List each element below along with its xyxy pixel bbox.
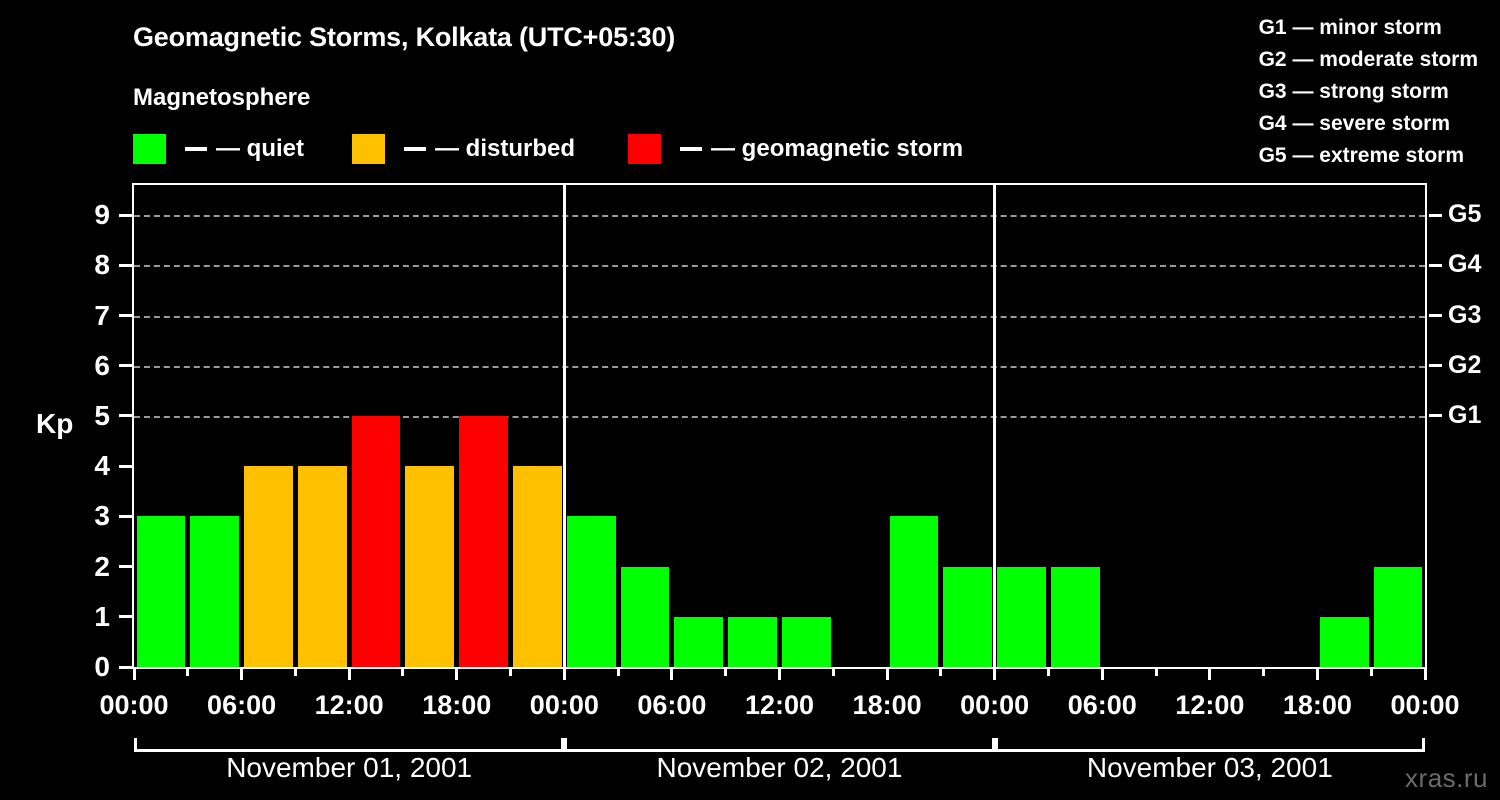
chart-subtitle: Magnetosphere: [133, 84, 310, 112]
g-tick-label-G1: G1: [1448, 403, 1481, 428]
x-tick-mark-minor: [1370, 667, 1373, 676]
page-title: Geomagnetic Storms, Kolkata (UTC+05:30): [133, 22, 675, 53]
x-tick-mark-minor: [617, 667, 620, 676]
legend-item-quiet: — quiet: [133, 134, 304, 164]
g-tick-label-G2: G2: [1448, 353, 1481, 378]
y-tick-mark: [119, 465, 132, 468]
x-tick-mark: [1424, 667, 1427, 680]
x-tick-label: 18:00: [1257, 692, 1377, 719]
x-tick-mark: [1208, 667, 1211, 680]
bar[interactable]: [1051, 567, 1100, 667]
x-tick-mark: [886, 667, 889, 680]
watermark: xras.ru: [1405, 763, 1488, 794]
y-tick-label-1: 1: [70, 603, 110, 631]
x-tick-mark-minor: [939, 667, 942, 676]
day-label: November 03, 2001: [995, 752, 1425, 784]
bar[interactable]: [943, 567, 992, 667]
x-tick-mark-minor: [186, 667, 189, 676]
bar[interactable]: [674, 617, 723, 667]
x-tick-mark-minor: [509, 667, 512, 676]
bar[interactable]: [190, 516, 239, 667]
plot-area: [132, 183, 1427, 669]
bar[interactable]: [1320, 617, 1369, 667]
y-tick-mark: [119, 314, 132, 317]
day-bracket: [995, 738, 1425, 752]
gridline-kp-6: [134, 366, 1425, 368]
x-tick-mark-minor: [832, 667, 835, 676]
legend-swatch-storm-icon: [628, 134, 661, 164]
day-separator: [993, 185, 996, 667]
y-tick-mark: [119, 364, 132, 367]
bar[interactable]: [890, 516, 939, 667]
legend-label-quiet: — quiet: [216, 135, 304, 163]
day-bracket: [134, 738, 564, 752]
y-tick-mark: [119, 214, 132, 217]
x-tick-mark: [133, 667, 136, 680]
x-tick-mark-minor: [1155, 667, 1158, 676]
gridline-kp-5: [134, 416, 1425, 418]
legend-item-geomagnetic-storm: — geomagnetic storm: [628, 134, 963, 164]
legend-dash-icon: [680, 147, 702, 151]
x-tick-mark: [455, 667, 458, 680]
y-tick-mark: [119, 615, 132, 618]
x-tick-label: 18:00: [397, 692, 517, 719]
y-tick-mark: [119, 264, 132, 267]
x-tick-mark-minor: [724, 667, 727, 676]
x-tick-mark-minor: [401, 667, 404, 676]
g-scale-line-g1: G1 — minor storm: [1259, 12, 1478, 44]
g-scale-line-g2: G2 — moderate storm: [1259, 44, 1478, 76]
x-tick-mark: [348, 667, 351, 680]
x-tick-label: 12:00: [1150, 692, 1270, 719]
y-tick-label-3: 3: [70, 502, 110, 530]
y-tick-label-6: 6: [70, 352, 110, 380]
bar[interactable]: [621, 567, 670, 667]
y-tick-label-8: 8: [70, 251, 110, 279]
bar[interactable]: [513, 466, 562, 667]
g-tick-mark: [1429, 414, 1442, 417]
x-tick-mark: [778, 667, 781, 680]
g-tick-mark: [1429, 314, 1442, 317]
x-tick-mark: [670, 667, 673, 680]
day-separator: [563, 185, 566, 667]
day-label: November 01, 2001: [134, 752, 564, 784]
x-tick-label: 12:00: [720, 692, 840, 719]
g-tick-label-G4: G4: [1448, 252, 1481, 277]
g-tick-label-G5: G5: [1448, 202, 1481, 227]
y-tick-label-9: 9: [70, 201, 110, 229]
y-tick-mark: [119, 414, 132, 417]
chart-page: Geomagnetic Storms, Kolkata (UTC+05:30) …: [0, 0, 1500, 800]
color-legend: — quiet — disturbed — geomagnetic storm: [133, 134, 963, 164]
day-bracket: [564, 738, 994, 752]
g-tick-mark: [1429, 214, 1442, 217]
bar[interactable]: [298, 466, 347, 667]
bar[interactable]: [728, 617, 777, 667]
y-tick-mark: [119, 565, 132, 568]
y-tick-label-0: 0: [70, 653, 110, 681]
x-tick-label: 06:00: [182, 692, 302, 719]
plot-inner: [134, 185, 1425, 667]
bar[interactable]: [137, 516, 186, 667]
gridline-kp-8: [134, 265, 1425, 267]
y-tick-label-2: 2: [70, 553, 110, 581]
x-tick-mark: [240, 667, 243, 680]
legend-item-disturbed: — disturbed: [352, 134, 575, 164]
day-label: November 02, 2001: [564, 752, 994, 784]
x-tick-label: 00:00: [74, 692, 194, 719]
gridline-kp-9: [134, 215, 1425, 217]
g-tick-mark: [1429, 364, 1442, 367]
bar[interactable]: [459, 416, 508, 667]
x-tick-mark-minor: [1262, 667, 1265, 676]
bar[interactable]: [782, 617, 831, 667]
g-scale-line-g4: G4 — severe storm: [1259, 108, 1478, 140]
bar[interactable]: [1374, 567, 1423, 667]
g-scale-line-g5: G5 — extreme storm: [1259, 140, 1478, 172]
legend-label-geomagnetic-storm: — geomagnetic storm: [711, 135, 963, 163]
y-tick-mark: [119, 515, 132, 518]
x-tick-label: 12:00: [289, 692, 409, 719]
bar[interactable]: [567, 516, 616, 667]
y-tick-mark: [119, 666, 132, 669]
y-axis-label: Kp: [36, 408, 73, 440]
g-tick-label-G3: G3: [1448, 303, 1481, 328]
g-tick-mark: [1429, 264, 1442, 267]
x-tick-mark: [993, 667, 996, 680]
y-tick-label-7: 7: [70, 302, 110, 330]
g-scale-line-g3: G3 — strong storm: [1259, 76, 1478, 108]
x-tick-label: 00:00: [1365, 692, 1485, 719]
bar[interactable]: [997, 567, 1046, 667]
x-tick-label: 00:00: [935, 692, 1055, 719]
bar[interactable]: [244, 466, 293, 667]
legend-label-disturbed: — disturbed: [435, 135, 575, 163]
x-tick-mark-minor: [1047, 667, 1050, 676]
bar[interactable]: [405, 466, 454, 667]
x-tick-mark: [563, 667, 566, 680]
legend-dash-icon: [185, 147, 207, 151]
x-tick-label: 06:00: [612, 692, 732, 719]
legend-swatch-quiet-icon: [133, 134, 166, 164]
y-tick-label-5: 5: [70, 402, 110, 430]
y-tick-label-4: 4: [70, 452, 110, 480]
x-tick-label: 06:00: [1042, 692, 1162, 719]
x-tick-mark: [1101, 667, 1104, 680]
x-tick-label: 18:00: [827, 692, 947, 719]
legend-swatch-disturbed-icon: [352, 134, 385, 164]
x-tick-label: 00:00: [504, 692, 624, 719]
x-tick-mark-minor: [294, 667, 297, 676]
legend-dash-icon: [404, 147, 426, 151]
x-tick-mark: [1316, 667, 1319, 680]
g-scale-legend: G1 — minor storm G2 — moderate storm G3 …: [1259, 12, 1478, 172]
bar[interactable]: [352, 416, 401, 667]
gridline-kp-7: [134, 316, 1425, 318]
